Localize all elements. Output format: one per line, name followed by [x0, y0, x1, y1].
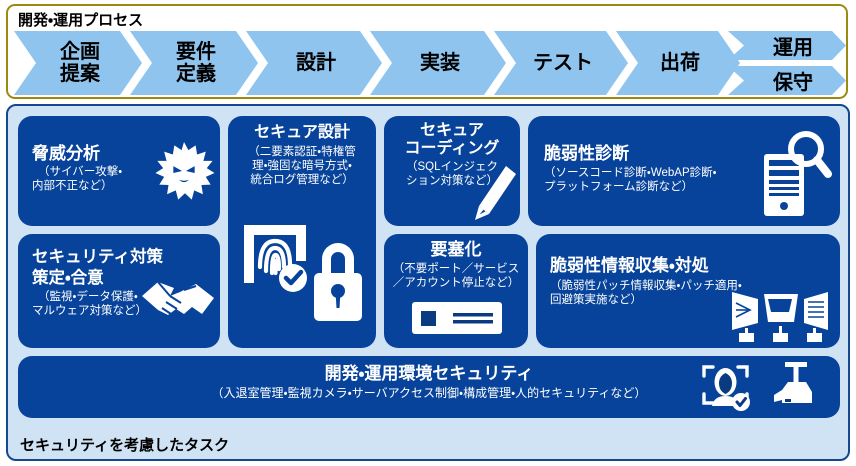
card-hardening-title: 要塞化 — [386, 240, 526, 259]
card-hardening-sub-2: ／アカウント停止など） — [386, 276, 526, 290]
process-panel: 開発・運用プロセス 企画 提案 要件 定義 設計 実装 テスト 出荷 — [6, 4, 848, 99]
cctv-camera-icon — [768, 362, 820, 412]
card-secure-design-sub-2: 理・強固な暗号方式・ — [232, 159, 372, 173]
process-stage-design[interactable]: 設計 — [246, 31, 382, 95]
monitors-icon — [732, 290, 828, 342]
card-vulnerability-assessment-sub-1: （ソースコード診断・WebAP診断・ — [544, 166, 779, 180]
process-stage-maintenance-label: 保守 — [773, 66, 813, 95]
process-stage-requirements-line-1: 要件 — [176, 41, 216, 63]
process-stage-implementation[interactable]: 実装 — [370, 31, 506, 95]
card-secure-design-title: セキュア設計 — [232, 124, 372, 142]
virus-icon — [153, 140, 215, 202]
process-stage-design-label: 設計 — [296, 52, 336, 74]
card-secure-design-sub-1: （二要素認証・特権管 — [232, 145, 372, 159]
process-stage-planning[interactable]: 企画 提案 — [14, 31, 142, 95]
card-hardening[interactable]: 要塞化 （不要ポート／サービス ／アカウント停止など） — [384, 234, 528, 348]
pencil-icon — [472, 164, 518, 222]
process-stage-maintenance[interactable]: 保守 — [728, 66, 846, 95]
process-stage-test-label: テスト — [533, 52, 593, 74]
card-vulnerability-info[interactable]: 脆弱性情報収集・対処 （脆弱性パッチ情報収集・パッチ適用・ 回避策実施など） — [536, 234, 840, 348]
process-stage-shipping[interactable]: 出荷 — [616, 31, 740, 95]
card-secure-design-sub-3: 統合ログ管理など） — [232, 173, 372, 187]
process-stage-requirements-line-2: 定義 — [176, 63, 216, 85]
process-stage-requirements[interactable]: 要件 定義 — [130, 31, 258, 95]
process-stage-shipping-label: 出荷 — [660, 52, 700, 74]
process-stage-test[interactable]: テスト — [494, 31, 628, 95]
diagram-root: 開発・運用プロセス 企画 提案 要件 定義 設計 実装 テスト 出荷 — [0, 0, 856, 466]
face-id-icon — [700, 362, 752, 412]
process-stage-planning-line-1: 企画 — [60, 41, 100, 63]
process-stage-operation-label: 運用 — [773, 31, 813, 60]
card-secure-coding-title-2: コーディング — [386, 140, 518, 158]
server-magnifier-icon — [756, 130, 832, 218]
card-security-policy[interactable]: セキュリティ対策 策定・合意 （監視・データ保護・ マルウェア対策など） — [18, 234, 220, 348]
fingerprint-lock-icon — [240, 221, 368, 339]
process-stage-implementation-label: 実装 — [420, 52, 460, 74]
process-stage-operation[interactable]: 運用 — [728, 31, 846, 60]
card-hardening-sub-1: （不要ポート／サービス — [386, 262, 526, 276]
card-environment-security[interactable]: 開発・運用環境セキュリティ （入退室管理・監視カメラ・サーバアクセス制御・構成管… — [18, 356, 840, 418]
card-threat-analysis-title: 脅威分析 — [32, 144, 152, 163]
process-stage-operation-maintenance: 運用 保守 — [728, 31, 846, 95]
card-vulnerability-assessment-title: 脆弱性診断 — [544, 144, 779, 163]
card-threat-analysis-sub-1: （サイバー攻撃・ — [32, 165, 152, 179]
card-threat-analysis-sub-2: 内部不正など） — [32, 179, 152, 193]
card-vulnerability-assessment-sub-2: プラットフォーム診断など） — [544, 180, 779, 194]
card-vulnerability-info-title: 脆弱性情報収集・対処 — [550, 256, 790, 275]
card-secure-coding[interactable]: セキュア コーディング （SQLインジェク ション対策など） — [384, 116, 520, 226]
card-secure-coding-title-1: セキュア — [386, 122, 518, 140]
card-secure-design[interactable]: セキュア設計 （二要素認証・特権管 理・強固な暗号方式・ 統合ログ管理など） — [228, 116, 376, 348]
card-vulnerability-assessment[interactable]: 脆弱性診断 （ソースコード診断・WebAP診断・ プラットフォーム診断など） — [528, 116, 840, 226]
process-chevron-row: 企画 提案 要件 定義 設計 実装 テスト 出荷 運用 — [14, 31, 844, 95]
process-panel-title: 開発・運用プロセス — [18, 9, 143, 30]
security-panel-label: セキュリティを考慮したタスク — [20, 434, 229, 455]
firewall-icon — [412, 302, 502, 334]
handshake-icon — [140, 274, 218, 332]
card-security-policy-title-1: セキュリティ対策 — [32, 248, 212, 267]
process-stage-planning-line-2: 提案 — [60, 63, 100, 85]
card-threat-analysis[interactable]: 脅威分析 （サイバー攻撃・ 内部不正など） — [18, 116, 220, 226]
security-task-panel: 脅威分析 （サイバー攻撃・ 内部不正など） — [6, 104, 850, 461]
